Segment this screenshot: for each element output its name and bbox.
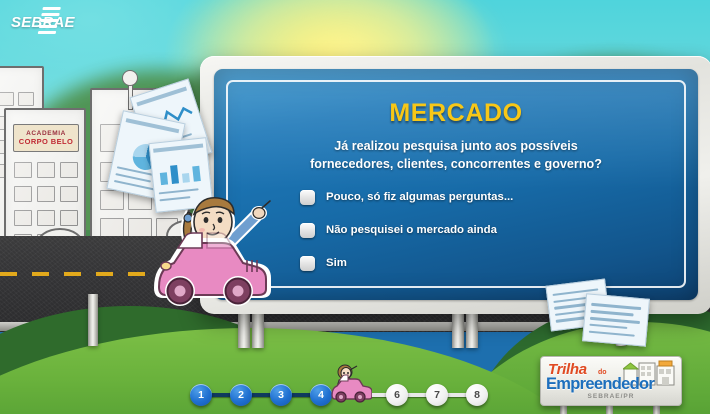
step-node-3[interactable]: 3	[270, 384, 292, 406]
step-node-7-label: 7	[434, 389, 440, 401]
question-category-title: MERCADO	[244, 99, 668, 128]
academia-sign: ACADEMIA CORPO BELO	[13, 124, 79, 152]
answer-option-3-label: Sim	[326, 257, 347, 269]
scene-root: ACADEMIA CORPO BELO	[0, 0, 710, 414]
step-node-6[interactable]: 6	[386, 384, 408, 406]
step-node-3-label: 3	[278, 389, 284, 401]
street-lamp-head	[122, 70, 138, 86]
empreendedor-word: Empreendedor	[546, 375, 654, 394]
step-node-1-label: 1	[198, 389, 204, 401]
step-node-4[interactable]: 4	[310, 384, 332, 406]
answer-option-1[interactable]: Pouco, só fiz algumas perguntas...	[300, 190, 668, 205]
answer-option-3[interactable]: Sim	[300, 256, 668, 271]
answer-option-2[interactable]: Não pesquisei o mercado ainda	[300, 223, 668, 238]
step-node-8[interactable]: 8	[466, 384, 488, 406]
checkbox-icon[interactable]	[300, 223, 315, 238]
step-node-4-label: 4	[318, 389, 324, 401]
current-step-marker[interactable]	[330, 364, 372, 404]
answer-option-2-label: Não pesquisei o mercado ainda	[326, 224, 497, 236]
character-in-car	[152, 188, 292, 314]
driver-and-car-illustration	[152, 188, 292, 314]
answer-options-list: Pouco, só fiz algumas perguntas... Não p…	[244, 190, 668, 271]
step-node-1[interactable]: 1	[190, 384, 212, 406]
checkbox-icon[interactable]	[300, 256, 315, 271]
question-text: Já realizou pesquisa junto aos possíveis…	[291, 138, 621, 174]
checkbox-icon[interactable]	[300, 190, 315, 205]
sebrae-logo-mark	[37, 7, 61, 37]
answer-option-1-label: Pouco, só fiz algumas perguntas...	[326, 191, 513, 203]
step-node-7[interactable]: 7	[426, 384, 448, 406]
current-step-car-icon	[330, 364, 372, 404]
step-node-2[interactable]: 2	[230, 384, 252, 406]
academia-sign-line2: CORPO BELO	[19, 138, 73, 146]
bar-chart-icon	[156, 158, 205, 186]
sebrae-logo[interactable]: SEBRAE	[6, 6, 78, 38]
document-paper-2	[582, 293, 650, 346]
trilha-logo[interactable]: Trilha do Empreendedor SEBRAE/PR	[540, 356, 682, 406]
trilha-subtitle: SEBRAE/PR	[541, 393, 681, 400]
step-node-8-label: 8	[474, 389, 480, 401]
step-node-6-label: 6	[394, 389, 400, 401]
step-node-2-label: 2	[238, 389, 244, 401]
